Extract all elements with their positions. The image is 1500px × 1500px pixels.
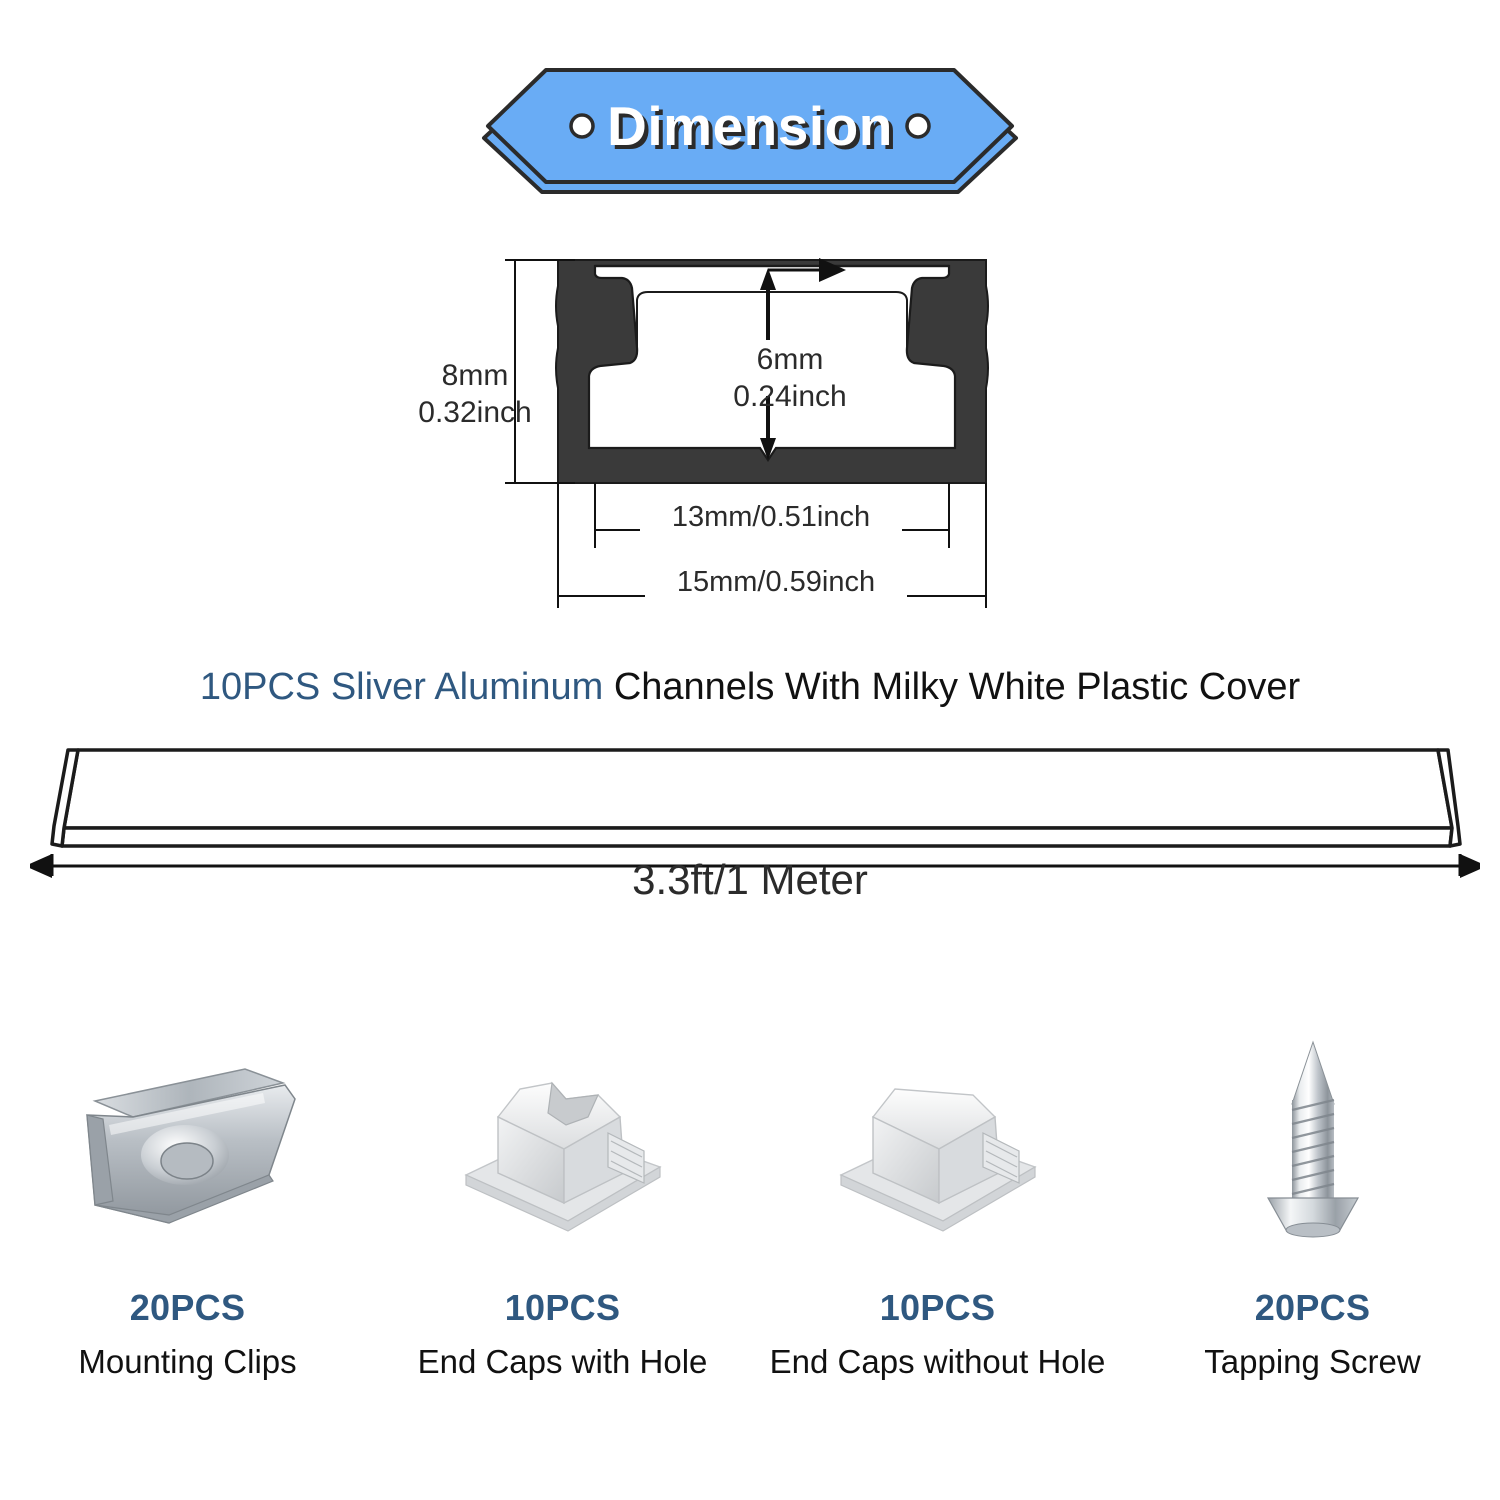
accessory-count: 10PCS [505, 1287, 621, 1329]
punch-hole-icon [571, 115, 593, 137]
product-title-highlight: 10PCS Sliver Aluminum [200, 666, 603, 708]
accessory-desc: Mounting Clips [78, 1343, 296, 1381]
product-title-rest: Channels With Milky White Plastic Cover [603, 666, 1300, 708]
accessory-desc: Tapping Screw [1204, 1343, 1420, 1381]
tapping-screw-drawing [1198, 1030, 1428, 1245]
accessory-end-caps-with-hole: 10PCS End Caps with Hole [375, 1030, 750, 1450]
bar-top-face [64, 750, 1452, 828]
inner-height-dimension-label: 6mm 0.24inch [690, 342, 890, 415]
accessory-count: 20PCS [130, 1287, 246, 1329]
accessory-count: 10PCS [880, 1287, 996, 1329]
accessory-mounting-clips: 20PCS Mounting Clips [0, 1030, 375, 1450]
inner-width-dimension-label: 13mm/0.51inch [640, 500, 902, 535]
accessory-count: 20PCS [1255, 1287, 1371, 1329]
mounting-clip-drawing [73, 1055, 303, 1245]
cross-section-drawing [390, 248, 1030, 618]
height-dimension-label: 8mm 0.32inch [410, 358, 540, 431]
accessory-desc: End Caps with Hole [418, 1343, 708, 1381]
screw-head-base [1286, 1223, 1340, 1237]
punch-hole-icon [907, 115, 929, 137]
clip-screw-hole [161, 1143, 213, 1179]
accessory-end-caps-without-hole: 10PCS End Caps without Hole [750, 1030, 1125, 1450]
end-cap-with-hole-icon [448, 1030, 678, 1245]
outer-width-dimension-label: 15mm/0.59inch [645, 565, 907, 600]
banner-shape [470, 62, 1030, 202]
accessory-tapping-screw: 20PCS Tapping Screw [1125, 1030, 1500, 1450]
product-title: 10PCS Sliver Aluminum Channels With Milk… [0, 666, 1500, 709]
cross-section-diagram [390, 248, 1030, 618]
accessories-row: 20PCS Mounting Clips [0, 1030, 1500, 1450]
dimension-banner: Dimension [470, 62, 1030, 202]
end-cap-no-hole-icon [823, 1030, 1053, 1245]
end-cap-no-hole-drawing [823, 1055, 1053, 1245]
mounting-clip-icon [73, 1030, 303, 1245]
bar-front-face [62, 828, 1452, 846]
screw-tip [1292, 1042, 1334, 1104]
end-cap-with-hole-drawing [448, 1055, 678, 1245]
accessory-desc: End Caps without Hole [770, 1343, 1106, 1381]
tapping-screw-icon [1198, 1030, 1428, 1245]
banner-front-layer [488, 70, 1012, 182]
length-label: 3.3ft/1 Meter [0, 856, 1500, 904]
